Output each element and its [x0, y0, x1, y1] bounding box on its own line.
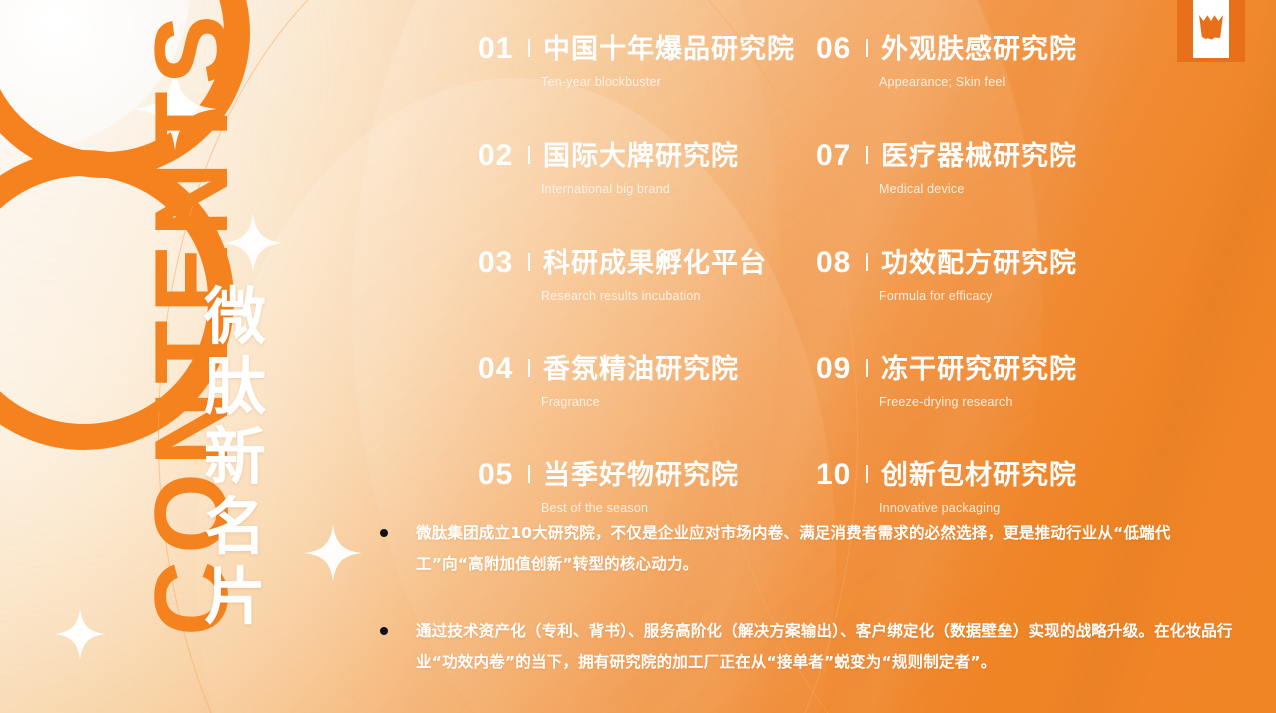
item-divider — [866, 146, 868, 164]
research-list-item[interactable]: 07医疗器械研究院Medical device — [816, 141, 1146, 196]
vertical-title: 微肽新名片 — [196, 282, 274, 632]
item-divider — [528, 253, 530, 271]
research-list-item[interactable]: 06外观肤感研究院Appearance; Skin feel — [816, 34, 1146, 89]
research-item-title-cn: 香氛精油研究院 — [543, 356, 739, 383]
research-item-number: 01 — [478, 34, 526, 64]
research-list-item[interactable]: 03科研成果孵化平台Research results incubation — [478, 248, 808, 303]
bullet-dot-icon — [380, 627, 388, 635]
item-divider — [866, 253, 868, 271]
bullet-dot-icon — [380, 529, 388, 537]
research-item-title-cn: 功效配方研究院 — [881, 250, 1077, 277]
research-item-title-en: Best of the season — [541, 501, 808, 515]
summary-bullet: 微肽集团成立10大研究院，不仅是企业应对市场内卷、满足消费者需求的必然选择，更是… — [380, 518, 1236, 580]
research-item-number: 09 — [816, 354, 864, 384]
vertical-title-char: 新 — [196, 422, 274, 492]
brand-logo — [1177, 0, 1245, 62]
research-item-heading: 05当季好物研究院 — [478, 460, 808, 490]
research-item-heading: 07医疗器械研究院 — [816, 141, 1146, 171]
research-list-item[interactable]: 05当季好物研究院Best of the season — [478, 460, 808, 515]
vertical-title-char: 片 — [196, 562, 274, 632]
research-item-number: 03 — [478, 248, 526, 278]
crown-icon — [1198, 13, 1224, 41]
research-item-title-en: Appearance; Skin feel — [879, 75, 1146, 89]
research-item-title-en: Research results incubation — [541, 289, 808, 303]
research-item-title-cn: 创新包材研究院 — [881, 462, 1077, 489]
item-divider — [866, 359, 868, 377]
research-item-heading: 04香氛精油研究院 — [478, 354, 808, 384]
logo-plate — [1193, 0, 1229, 58]
item-divider — [528, 465, 530, 483]
research-item-title-en: Innovative packaging — [879, 501, 1146, 515]
summary-bullets: 微肽集团成立10大研究院，不仅是企业应对市场内卷、满足消费者需求的必然选择，更是… — [380, 518, 1236, 713]
research-item-heading: 03科研成果孵化平台 — [478, 248, 808, 278]
research-item-number: 04 — [478, 354, 526, 384]
item-divider — [528, 146, 530, 164]
research-item-heading: 02国际大牌研究院 — [478, 141, 808, 171]
research-item-title-cn: 当季好物研究院 — [543, 462, 739, 489]
research-item-number: 10 — [816, 460, 864, 490]
research-item-title-cn: 医疗器械研究院 — [881, 143, 1077, 170]
research-list-item[interactable]: 02国际大牌研究院International big brand — [478, 141, 808, 196]
summary-bullet-text: 微肽集团成立10大研究院，不仅是企业应对市场内卷、满足消费者需求的必然选择，更是… — [416, 518, 1236, 580]
vertical-title-char: 名 — [196, 492, 274, 562]
research-item-title-cn: 外观肤感研究院 — [881, 36, 1077, 63]
research-item-heading: 01中国十年爆品研究院 — [478, 34, 808, 64]
research-item-number: 06 — [816, 34, 864, 64]
research-item-title-en: Fragrance — [541, 395, 808, 409]
research-list-left: 01中国十年爆品研究院Ten-year blockbuster02国际大牌研究院… — [478, 34, 808, 555]
research-item-title-en: Medical device — [879, 182, 1146, 196]
research-item-number: 08 — [816, 248, 864, 278]
summary-bullet-text: 通过技术资产化（专利、背书）、服务高阶化（解决方案输出）、客户绑定化（数据壁垒）… — [416, 616, 1236, 678]
research-item-title-en: International big brand — [541, 182, 808, 196]
research-item-title-en: Formula for efficacy — [879, 289, 1146, 303]
item-divider — [866, 39, 868, 57]
vertical-title-char: 微 — [196, 282, 274, 352]
research-item-heading: 06外观肤感研究院 — [816, 34, 1146, 64]
vertical-title-char: 肽 — [196, 352, 274, 422]
research-list-item[interactable]: 09冻干研究研究院Freeze-drying research — [816, 354, 1146, 409]
research-list-item[interactable]: 10创新包材研究院Innovative packaging — [816, 460, 1146, 515]
research-item-title-cn: 国际大牌研究院 — [543, 143, 739, 170]
research-item-number: 02 — [478, 141, 526, 171]
research-item-title-cn: 冻干研究研究院 — [881, 356, 1077, 383]
research-item-heading: 10创新包材研究院 — [816, 460, 1146, 490]
research-list-item[interactable]: 01中国十年爆品研究院Ten-year blockbuster — [478, 34, 808, 89]
summary-bullet: 通过技术资产化（专利、背书）、服务高阶化（解决方案输出）、客户绑定化（数据壁垒）… — [380, 616, 1236, 678]
item-divider — [528, 359, 530, 377]
research-item-title-en: Ten-year blockbuster — [541, 75, 808, 89]
research-item-title-cn: 中国十年爆品研究院 — [543, 36, 795, 63]
slide-canvas: CONTENTS 微肽新名片 01中国十年爆品研究院Ten-year block… — [0, 0, 1276, 713]
item-divider — [528, 39, 530, 57]
research-item-number: 05 — [478, 460, 526, 490]
research-list-item[interactable]: 04香氛精油研究院Fragrance — [478, 354, 808, 409]
research-item-title-en: Freeze-drying research — [879, 395, 1146, 409]
research-list-right: 06外观肤感研究院Appearance; Skin feel07医疗器械研究院M… — [816, 34, 1146, 555]
research-item-heading: 09冻干研究研究院 — [816, 354, 1146, 384]
research-item-heading: 08功效配方研究院 — [816, 248, 1146, 278]
item-divider — [866, 465, 868, 483]
research-list-item[interactable]: 08功效配方研究院Formula for efficacy — [816, 248, 1146, 303]
research-item-title-cn: 科研成果孵化平台 — [543, 250, 767, 277]
research-item-number: 07 — [816, 141, 864, 171]
